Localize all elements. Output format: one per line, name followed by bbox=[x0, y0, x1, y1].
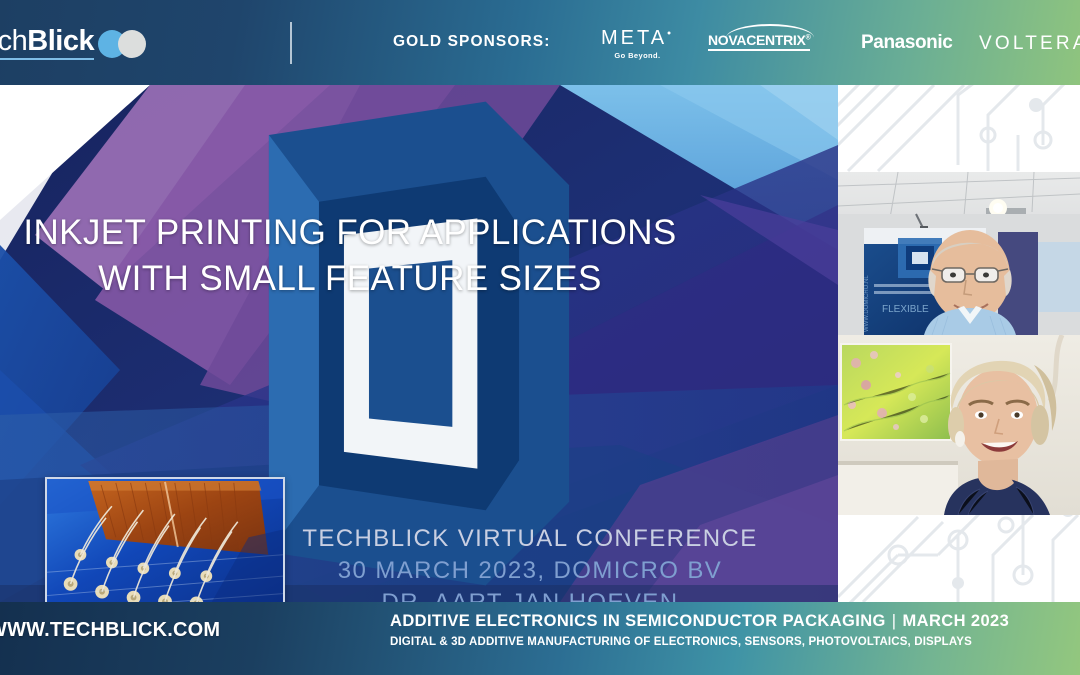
presentation-slide[interactable]: INKJET PRINTING FOR APPLICATIONS WITH SM… bbox=[0, 85, 838, 602]
webinar-screen: echBlick GOLD SPONSORS: META• Go Beyond.… bbox=[0, 0, 1080, 675]
svg-text:WWW.DOMICRO.NL: WWW.DOMICRO.NL bbox=[864, 275, 870, 332]
speaker-video-tile-2[interactable] bbox=[838, 335, 1080, 515]
event-subtitle: DIGITAL & 3D ADDITIVE MANUFACTURING OF E… bbox=[390, 636, 1080, 648]
event-title: ADDITIVE ELECTRONICS IN SEMICONDUCTOR PA… bbox=[390, 612, 886, 630]
speaker-video-tile-1[interactable]: FLEXIBLE WWW.DOMICRO.NL bbox=[838, 172, 1080, 335]
website-url[interactable]: WWW.TECHBLICK.COM bbox=[0, 619, 220, 642]
event-separator: | bbox=[886, 612, 903, 630]
novacentrix-rule bbox=[708, 49, 810, 51]
event-date: MARCH 2023 bbox=[902, 612, 1009, 630]
logo-prefix: ech bbox=[0, 25, 27, 57]
gold-sponsors-label: GOLD SPONSORS: bbox=[393, 33, 551, 51]
two-circles-icon bbox=[98, 28, 152, 58]
top-banner: echBlick GOLD SPONSORS: META• Go Beyond.… bbox=[0, 0, 1080, 85]
novacentrix-arc-icon bbox=[726, 24, 814, 38]
slide-title-line-1: INKJET PRINTING FOR APPLICATIONS bbox=[23, 213, 676, 252]
conference-name: TECHBLICK VIRTUAL CONFERENCE bbox=[270, 523, 790, 555]
participants-video-panel: FLEXIBLE WWW.DOMICRO.NL bbox=[838, 85, 1080, 602]
sponsor-logo-panasonic[interactable]: Panasonic bbox=[861, 32, 952, 54]
event-info: ADDITIVE ELECTRONICS IN SEMICONDUCTOR PA… bbox=[390, 612, 1080, 648]
svg-text:FLEXIBLE: FLEXIBLE bbox=[882, 304, 929, 315]
slide-title: INKJET PRINTING FOR APPLICATIONS WITH SM… bbox=[0, 210, 700, 302]
logo-underline bbox=[0, 58, 94, 60]
wire-bonded-chip-photo bbox=[45, 477, 285, 602]
slide-title-line-2: WITH SMALL FEATURE SIZES bbox=[98, 259, 602, 298]
presenter-name: DR. AART-JAN HOEVEN bbox=[270, 587, 790, 602]
sponsor-logo-novacentrix[interactable]: NOVACENTRIX® bbox=[708, 33, 810, 51]
meta-wordmark: META• bbox=[601, 28, 674, 48]
sponsor-logo-meta[interactable]: META• Go Beyond. bbox=[601, 28, 674, 60]
techblick-logo[interactable]: echBlick bbox=[0, 24, 152, 62]
conference-date-company: 30 MARCH 2023, DOMICRO BV bbox=[270, 555, 790, 587]
sponsor-logo-voltera[interactable]: VOLTERA bbox=[979, 33, 1080, 55]
logo-bold: Blick bbox=[27, 25, 94, 57]
meta-tagline: Go Beyond. bbox=[601, 51, 674, 60]
slide-subtitle: TECHBLICK VIRTUAL CONFERENCE 30 MARCH 20… bbox=[270, 523, 790, 602]
header-divider bbox=[290, 22, 292, 64]
techblick-logo-text: echBlick bbox=[0, 27, 94, 59]
event-title-line: ADDITIVE ELECTRONICS IN SEMICONDUCTOR PA… bbox=[390, 612, 1080, 631]
